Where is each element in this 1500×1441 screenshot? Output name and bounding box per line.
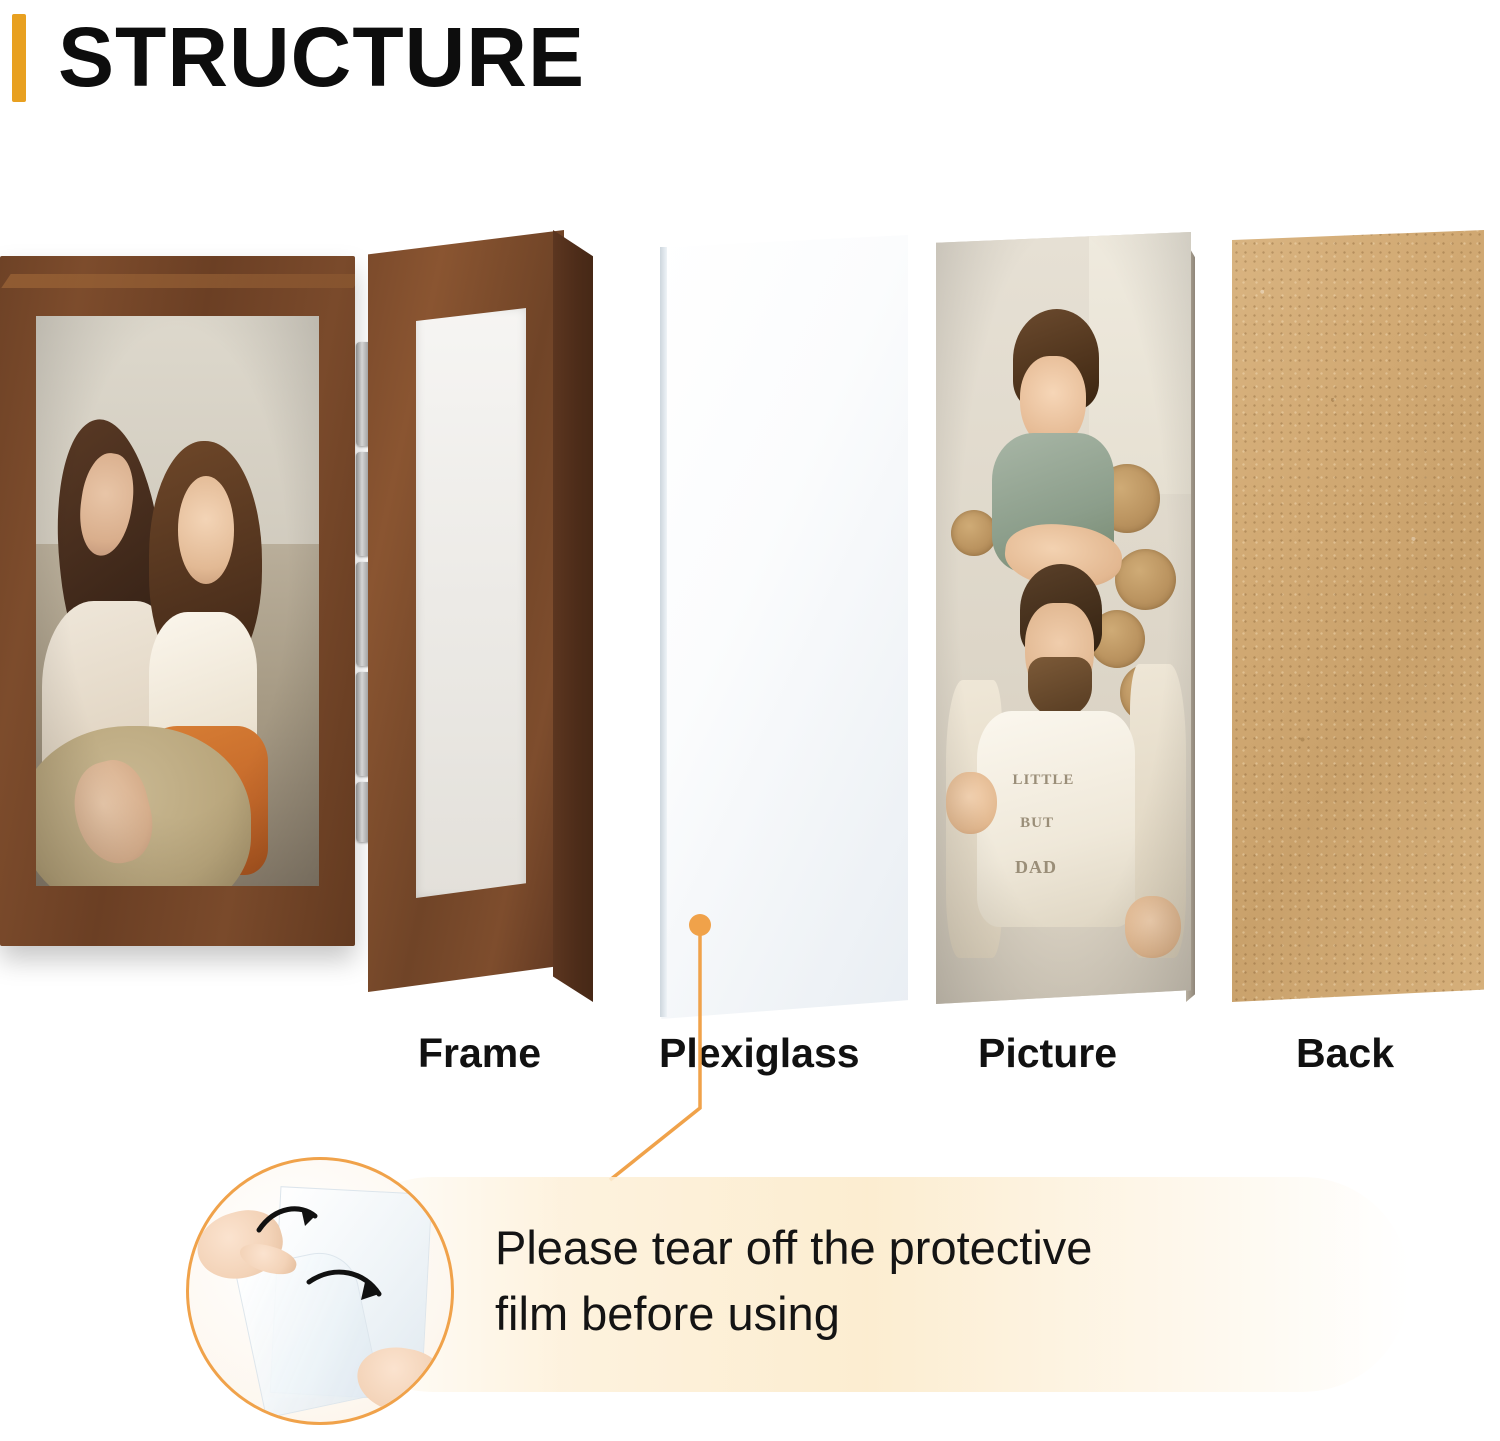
label-plexiglass: Plexiglass (659, 1030, 860, 1077)
note-text: Please tear off the protective film befo… (495, 1215, 1395, 1347)
protective-film-note: Please tear off the protective film befo… (150, 1135, 1410, 1425)
picture-sheet: LITTLE BUT DAD (936, 232, 1198, 1012)
page-header: STRUCTURE (0, 0, 1500, 120)
note-line-2: film before using (495, 1281, 1395, 1347)
frame-assembly (0, 230, 620, 1020)
photo-father-son: LITTLE BUT DAD (936, 232, 1191, 1004)
frame-left-top-edge (1, 274, 355, 288)
label-back: Back (1296, 1030, 1394, 1077)
note-illustration (186, 1157, 454, 1425)
frame-right-panel (368, 230, 598, 1020)
peel-arrows (189, 1160, 451, 1422)
label-picture: Picture (978, 1030, 1117, 1077)
part-labels: Frame Plexiglass Picture Back (0, 1030, 1500, 1100)
frame-left-photo-window (36, 316, 319, 886)
note-line-1: Please tear off the protective (495, 1215, 1395, 1281)
frame-left-panel (0, 256, 355, 946)
photo2-vignette (936, 232, 1191, 1004)
frame-right-opening (416, 308, 526, 898)
page-title: STRUCTURE (58, 2, 585, 112)
back-board-face (1232, 230, 1484, 1002)
exploded-diagram: LITTLE BUT DAD (0, 120, 1500, 1020)
frame-right-side-edge (553, 230, 593, 1002)
photo1-vignette (36, 316, 319, 886)
header-accent-bar (12, 14, 26, 102)
back-board-texture (1232, 230, 1484, 1002)
plexiglass-edge (660, 247, 667, 1017)
plexiglass-face (660, 235, 908, 1019)
back-board (1232, 230, 1490, 1020)
label-frame: Frame (418, 1030, 541, 1077)
photo-mother-daughter (36, 316, 319, 886)
plexiglass-sheet (660, 235, 908, 1025)
